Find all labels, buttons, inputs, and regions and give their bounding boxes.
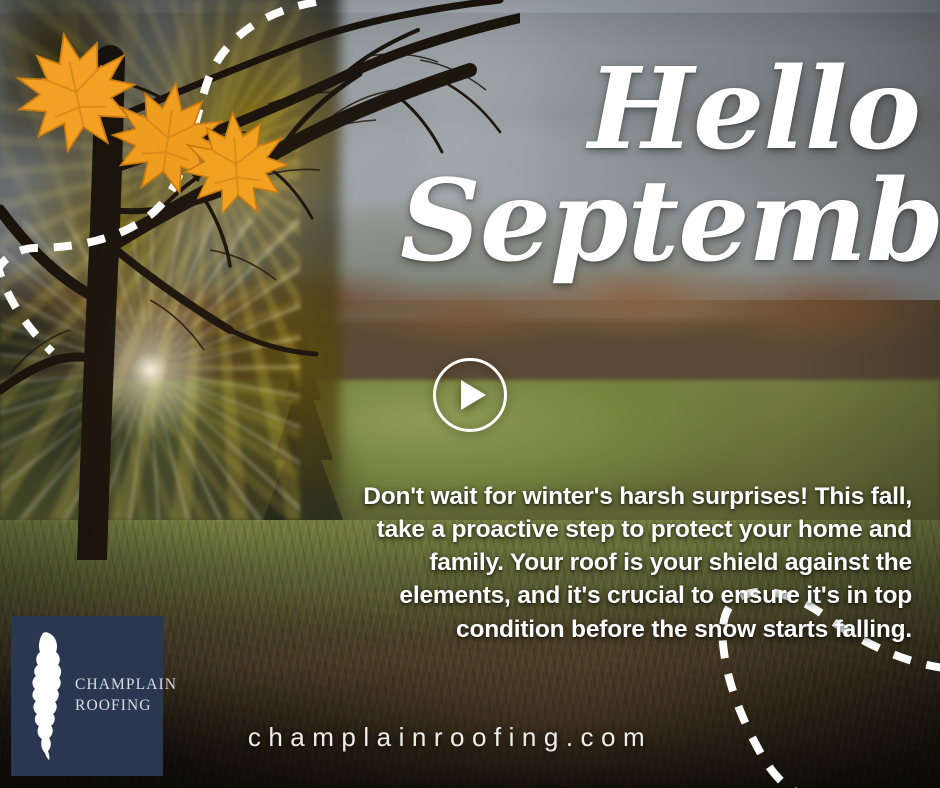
play-triangle-icon [461, 380, 486, 410]
brand-name: CHAMPLAIN ROOFING [75, 675, 177, 717]
social-media-post: Hello September Don't wait for winter's … [0, 0, 940, 788]
brand-name-line-1: CHAMPLAIN [75, 675, 177, 696]
brand-logo[interactable]: CHAMPLAIN ROOFING [11, 616, 163, 776]
lake-champlain-icon [23, 631, 71, 761]
brand-name-line-2: ROOFING [75, 696, 177, 717]
maple-leaf-icon [176, 104, 296, 224]
website-url[interactable]: champlainroofing.com [200, 722, 700, 753]
play-button[interactable] [433, 358, 507, 432]
